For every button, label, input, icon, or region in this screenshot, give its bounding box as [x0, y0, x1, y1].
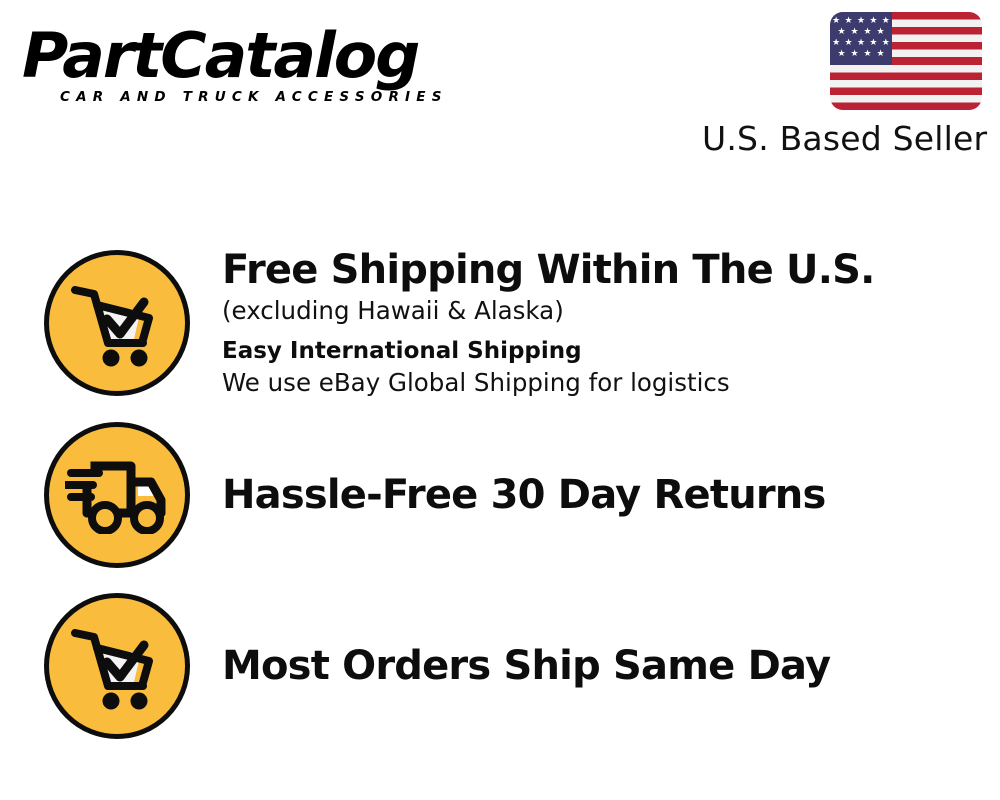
flag-canton: ★★★★★ ★★★★ ★★★★★ ★★★★ [830, 12, 892, 65]
feature-title: Free Shipping Within The U.S. [222, 247, 980, 293]
feature-row-returns: Hassle-Free 30 Day Returns [0, 422, 1000, 568]
flag-star-row: ★★★★ [830, 49, 892, 58]
seller-label: U.S. Based Seller [702, 121, 982, 157]
flag-star-row: ★★★★ [830, 27, 892, 36]
shopping-cart-check-icon [44, 250, 190, 396]
brand-logo[interactable]: PartCatalog CAR AND TRUCK ACCESSORIES [22, 24, 492, 105]
page-header: PartCatalog CAR AND TRUCK ACCESSORIES ★★… [0, 0, 1000, 175]
feature-note: (excluding Hawaii & Alaska) [222, 295, 980, 327]
feature-text-same-day-ship: Most Orders Ship Same Day [222, 643, 1000, 689]
feature-subheading: Easy International Shipping [222, 335, 980, 367]
feature-subtext: We use eBay Global Shipping for logistic… [222, 367, 980, 399]
feature-title: Most Orders Ship Same Day [222, 643, 980, 689]
feature-row-same-day-ship: Most Orders Ship Same Day [0, 593, 1000, 739]
flag-star-row: ★★★★★ [830, 38, 892, 47]
us-based-seller-badge: ★★★★★ ★★★★ ★★★★★ ★★★★ U.S. Based Seller [702, 12, 982, 157]
feature-row-free-shipping: Free Shipping Within The U.S. (excluding… [0, 250, 1000, 396]
feature-text-free-shipping: Free Shipping Within The U.S. (excluding… [222, 247, 1000, 399]
feature-text-returns: Hassle-Free 30 Day Returns [222, 472, 1000, 518]
shopping-cart-check-icon [44, 593, 190, 739]
flag-star-row: ★★★★★ [830, 16, 892, 25]
delivery-truck-icon [44, 422, 190, 568]
us-flag-icon: ★★★★★ ★★★★ ★★★★★ ★★★★ [830, 12, 982, 110]
logo-wordmark: PartCatalog [22, 24, 501, 88]
feature-title: Hassle-Free 30 Day Returns [222, 472, 980, 518]
